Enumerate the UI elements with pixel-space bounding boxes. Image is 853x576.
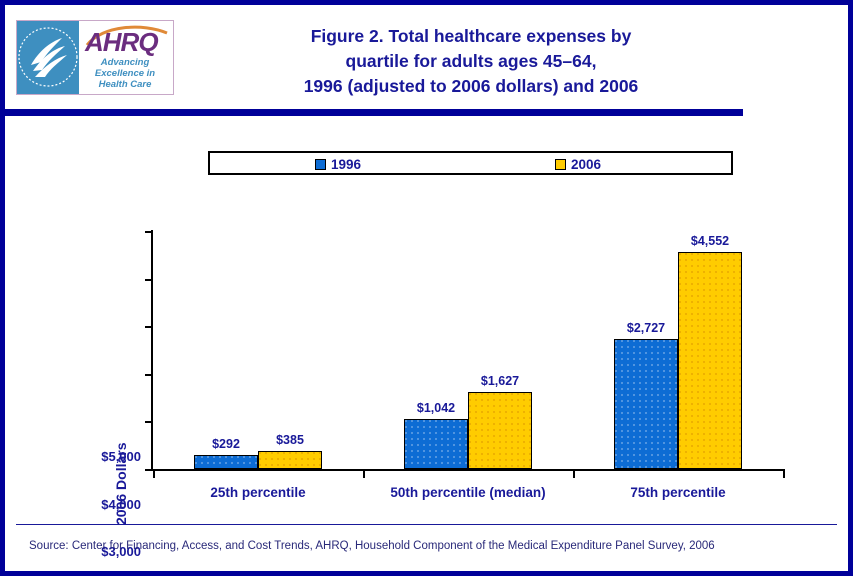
ahrq-logo: AHRQ Advancing Excellence in Health Care (16, 20, 174, 95)
y-axis-tick (145, 231, 152, 233)
source-note: Source: Center for Financing, Access, an… (29, 540, 715, 552)
ahrq-acronym: AHRQ (85, 29, 158, 55)
y-axis-tick-labels: $0$1,000$2,000$3,000$4,000$5,000 (71, 457, 141, 576)
bar-2006-25th-percentile[interactable] (258, 451, 322, 469)
tagline-line-1: Advancing (79, 57, 171, 68)
header: AHRQ Advancing Excellence in Health Care… (5, 5, 848, 105)
ahrq-wordmark: AHRQ Advancing Excellence in Health Care (79, 21, 173, 94)
header-divider (5, 109, 743, 116)
legend-label: 2006 (571, 157, 601, 172)
figure-title-line-3: 1996 (adjusted to 2006 dollars) and 2006 (191, 74, 751, 99)
figure-title: Figure 2. Total healthcare expenses by q… (191, 24, 751, 99)
bar-2006-75th-percentile[interactable] (678, 252, 742, 469)
bar-2006-50th-percentile-median-[interactable] (468, 392, 532, 469)
legend-swatch-icon (315, 159, 326, 170)
hhs-seal-icon (17, 21, 79, 94)
y-axis-tick-label: $4,000 (71, 497, 141, 512)
x-axis-tick (363, 471, 365, 478)
figure-title-line-1: Figure 2. Total healthcare expenses by (191, 24, 751, 49)
ahrq-tagline: Advancing Excellence in Health Care (79, 57, 171, 90)
y-axis-tick (145, 421, 152, 423)
bar-value-label: $1,627 (458, 374, 542, 388)
bar-1996-25th-percentile[interactable] (194, 455, 258, 469)
y-axis-tick (145, 469, 152, 471)
tagline-line-3: Health Care (79, 79, 171, 90)
bar-1996-50th-percentile-median-[interactable] (404, 419, 468, 469)
x-axis-category-label: 75th percentile (568, 485, 788, 500)
y-axis-tick (145, 279, 152, 281)
figure-title-line-2: quartile for adults ages 45–64, (191, 49, 751, 74)
y-axis-tick (145, 326, 152, 328)
legend-swatch-icon (555, 159, 566, 170)
y-axis-tick-label: $5,000 (71, 449, 141, 464)
bar-value-label: $4,552 (668, 234, 752, 248)
legend-entry-2006[interactable]: 2006 (555, 156, 601, 172)
chart-legend: 19962006 (208, 151, 733, 175)
legend-entry-1996[interactable]: 1996 (315, 156, 361, 172)
x-axis-tick (783, 471, 785, 478)
x-axis-tick (153, 471, 155, 478)
footer-divider (16, 524, 837, 525)
y-axis-line (151, 230, 153, 470)
bar-value-label: $1,042 (394, 401, 478, 415)
x-axis-category-label: 50th percentile (median) (358, 485, 578, 500)
chart-plot-area: $0$1,000$2,000$3,000$4,000$5,000 2006 Do… (153, 231, 783, 469)
figure-window: AHRQ Advancing Excellence in Health Care… (0, 0, 853, 576)
y-axis-tick (145, 374, 152, 376)
bar-1996-75th-percentile[interactable] (614, 339, 678, 469)
y-axis-title: 2006 Dollars (113, 443, 129, 526)
x-axis-category-label: 25th percentile (148, 485, 368, 500)
tagline-line-2: Excellence in (79, 68, 171, 79)
bar-value-label: $2,727 (604, 321, 688, 335)
x-axis-line (151, 469, 785, 471)
bar-value-label: $385 (248, 433, 332, 447)
x-axis-tick (573, 471, 575, 478)
legend-label: 1996 (331, 157, 361, 172)
